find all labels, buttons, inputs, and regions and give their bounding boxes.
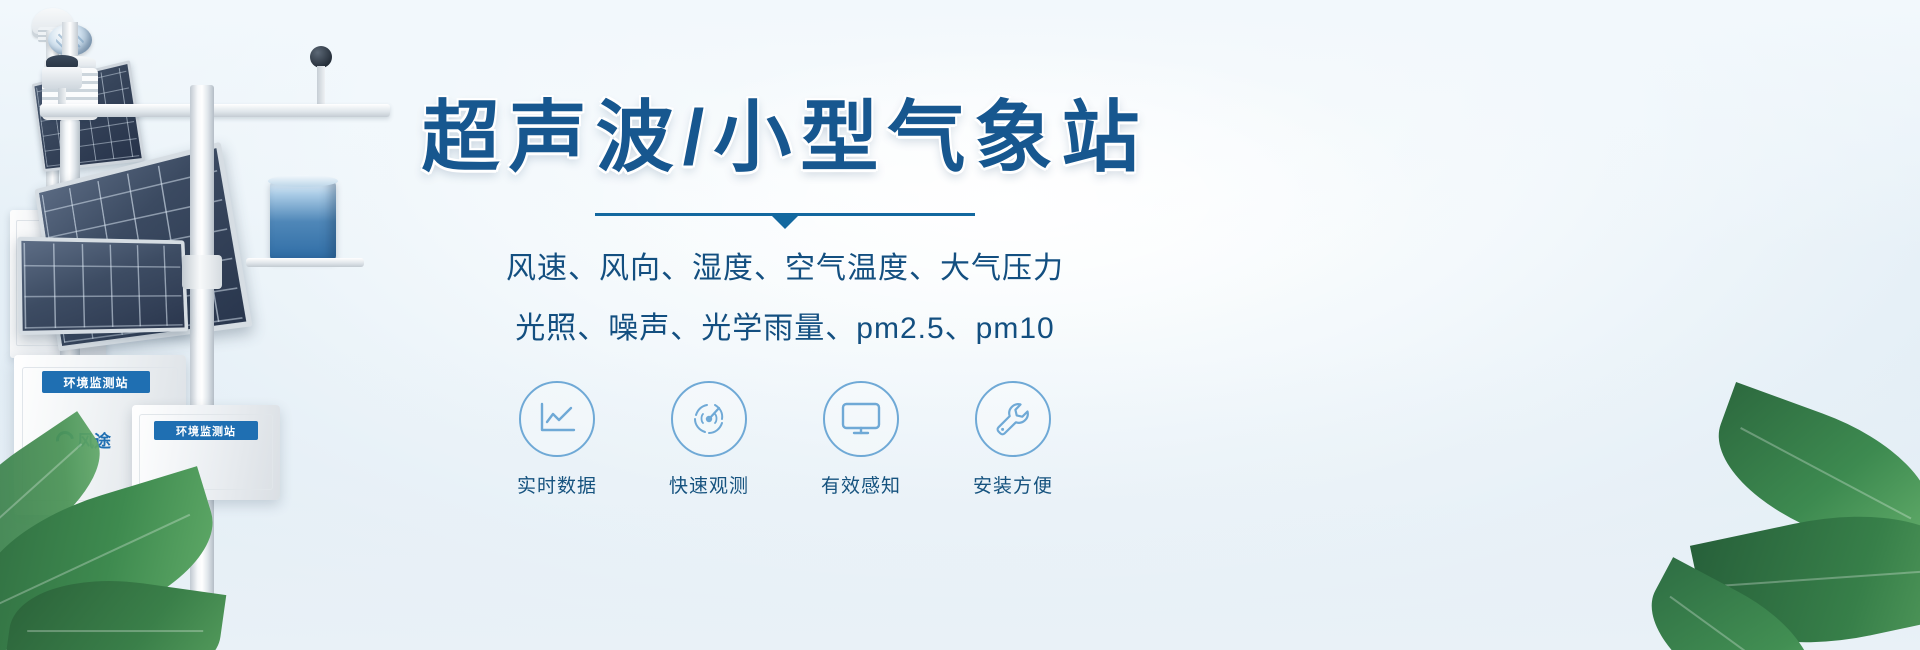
ultrasonic-wind-sensor-icon [42,55,82,105]
cabinet-name-plate: 环境监测站 [154,421,258,440]
banner-subtitle-line-2: 光照、噪声、光学雨量、pm2.5、pm10 [420,303,1150,347]
divider-triangle-icon [772,216,798,229]
banner-subtitle-line-1: 风速、风向、湿度、空气温度、大气压力 [420,243,1150,287]
sensor-head [310,46,332,68]
feature-ring [671,381,747,457]
mast-collar [182,255,222,289]
feature-item-realtime-data[interactable]: 实时数据 [507,381,607,498]
feature-label: 快速观测 [659,471,759,498]
monitor-icon [840,401,882,437]
title-divider [595,209,975,223]
equipment-shelf [246,258,364,267]
feature-ring [519,381,595,457]
sensor-neck [317,66,325,108]
product-banner: 环境监测站 风途 环境监测站 风途 [0,0,1920,650]
feature-label: 安装方便 [963,471,1063,498]
banner-copy: 超声波/小型气象站 风速、风向、湿度、空气温度、大气压力 光照、噪声、光学雨量、… [420,95,1150,498]
feature-label: 有效感知 [811,471,911,498]
feature-item-easy-installation[interactable]: 安装方便 [963,381,1063,498]
feature-ring [975,381,1051,457]
wrench-icon [993,399,1033,439]
feature-item-fast-observation[interactable]: 快速观测 [659,381,759,498]
feature-item-effective-sensing[interactable]: 有效感知 [811,381,911,498]
solar-panel [17,237,188,335]
rain-gauge-icon [270,180,336,260]
feature-list: 实时数据 快速观测 [420,381,1150,498]
line-chart-icon [537,401,577,437]
banner-title: 超声波/小型气象站 [420,95,1150,179]
optical-sensor-icon [308,46,334,106]
sensor-body [42,67,82,89]
feature-ring [823,381,899,457]
radar-wind-icon [689,399,729,439]
feature-label: 实时数据 [507,471,607,498]
cross-arm [40,104,390,117]
cabinet-name-plate: 环境监测站 [42,371,150,393]
